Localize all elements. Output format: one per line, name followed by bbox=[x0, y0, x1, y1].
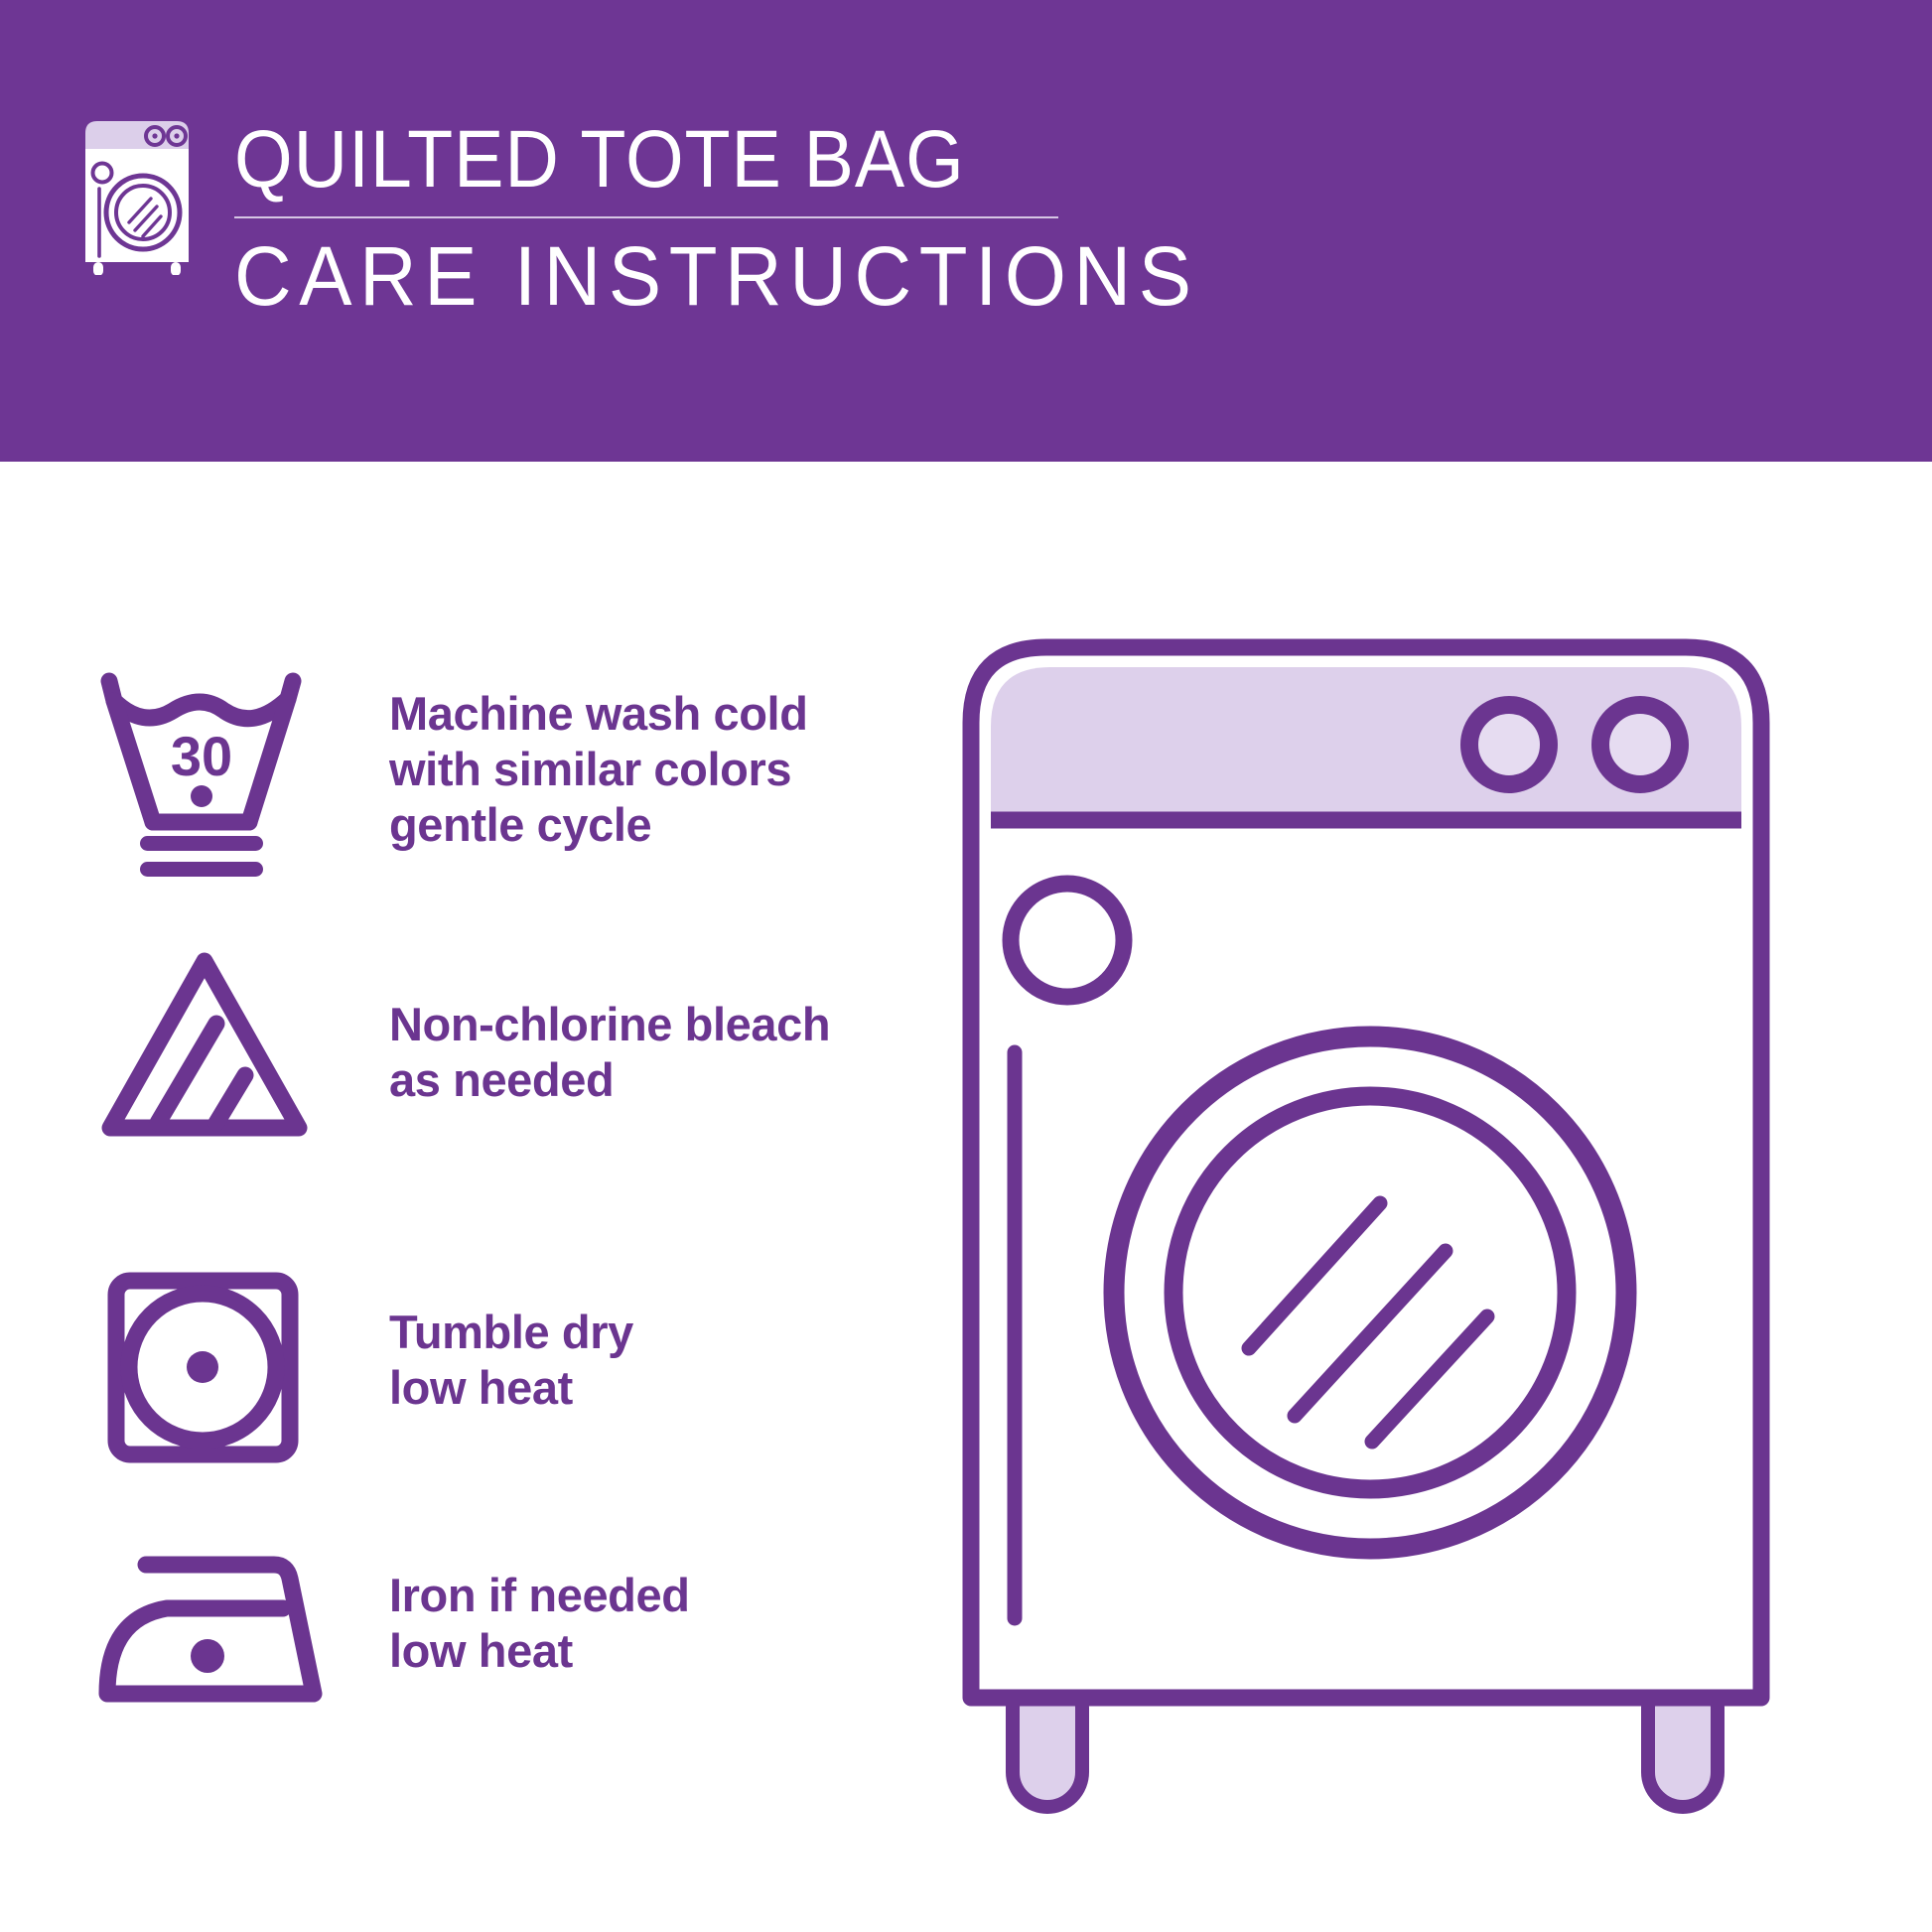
care-item-wash: 30 Machine wash cold with similar colors… bbox=[0, 645, 894, 894]
care-line: low heat bbox=[389, 1360, 856, 1416]
care-item-tumble-dry: Tumble dry low heat bbox=[0, 1236, 894, 1484]
care-item-iron: Iron if needed low heat bbox=[0, 1499, 894, 1747]
care-line: Tumble dry bbox=[389, 1305, 856, 1360]
non-chlorine-bleach-triangle-icon bbox=[83, 928, 332, 1176]
care-item-bleach-label: Non-chlorine bleach as needed bbox=[389, 997, 856, 1108]
care-item-tumble-dry-label: Tumble dry low heat bbox=[389, 1305, 856, 1416]
tumble-dry-low-icon bbox=[83, 1236, 332, 1484]
page-title: QUILTED TOTE BAG bbox=[234, 117, 1239, 203]
knob-right bbox=[1600, 705, 1680, 784]
wash-temperature-value: 30 bbox=[171, 725, 232, 787]
page-subtitle: CARE INSTRUCTIONS bbox=[234, 230, 1272, 322]
care-item-iron-label: Iron if needed low heat bbox=[389, 1568, 856, 1679]
knob-left bbox=[1469, 705, 1549, 784]
care-line: Machine wash cold bbox=[389, 686, 856, 742]
care-line: Iron if needed bbox=[389, 1568, 856, 1623]
header-text-block: QUILTED TOTE BAG CARE INSTRUCTIONS bbox=[234, 117, 1326, 322]
care-item-bleach: Non-chlorine bleach as needed bbox=[0, 928, 894, 1176]
care-line: Non-chlorine bleach bbox=[389, 997, 856, 1052]
wash-tub-30-gentle-icon: 30 bbox=[83, 645, 332, 894]
care-line: low heat bbox=[389, 1623, 856, 1679]
care-instruction-list: 30 Machine wash cold with similar colors… bbox=[0, 462, 894, 1932]
front-load-washing-machine-illustration bbox=[953, 625, 1866, 1827]
washing-machine-icon bbox=[68, 111, 216, 275]
header-banner: QUILTED TOTE BAG CARE INSTRUCTIONS bbox=[0, 0, 1932, 462]
care-item-wash-label: Machine wash cold with similar colors ge… bbox=[389, 686, 856, 853]
title-divider bbox=[234, 216, 1058, 218]
care-line: gentle cycle bbox=[389, 797, 856, 853]
care-line: as needed bbox=[389, 1052, 856, 1108]
care-line: with similar colors bbox=[389, 742, 856, 797]
care-instructions-poster: QUILTED TOTE BAG CARE INSTRUCTIONS 30 bbox=[0, 0, 1932, 1932]
iron-low-heat-icon bbox=[83, 1499, 332, 1747]
